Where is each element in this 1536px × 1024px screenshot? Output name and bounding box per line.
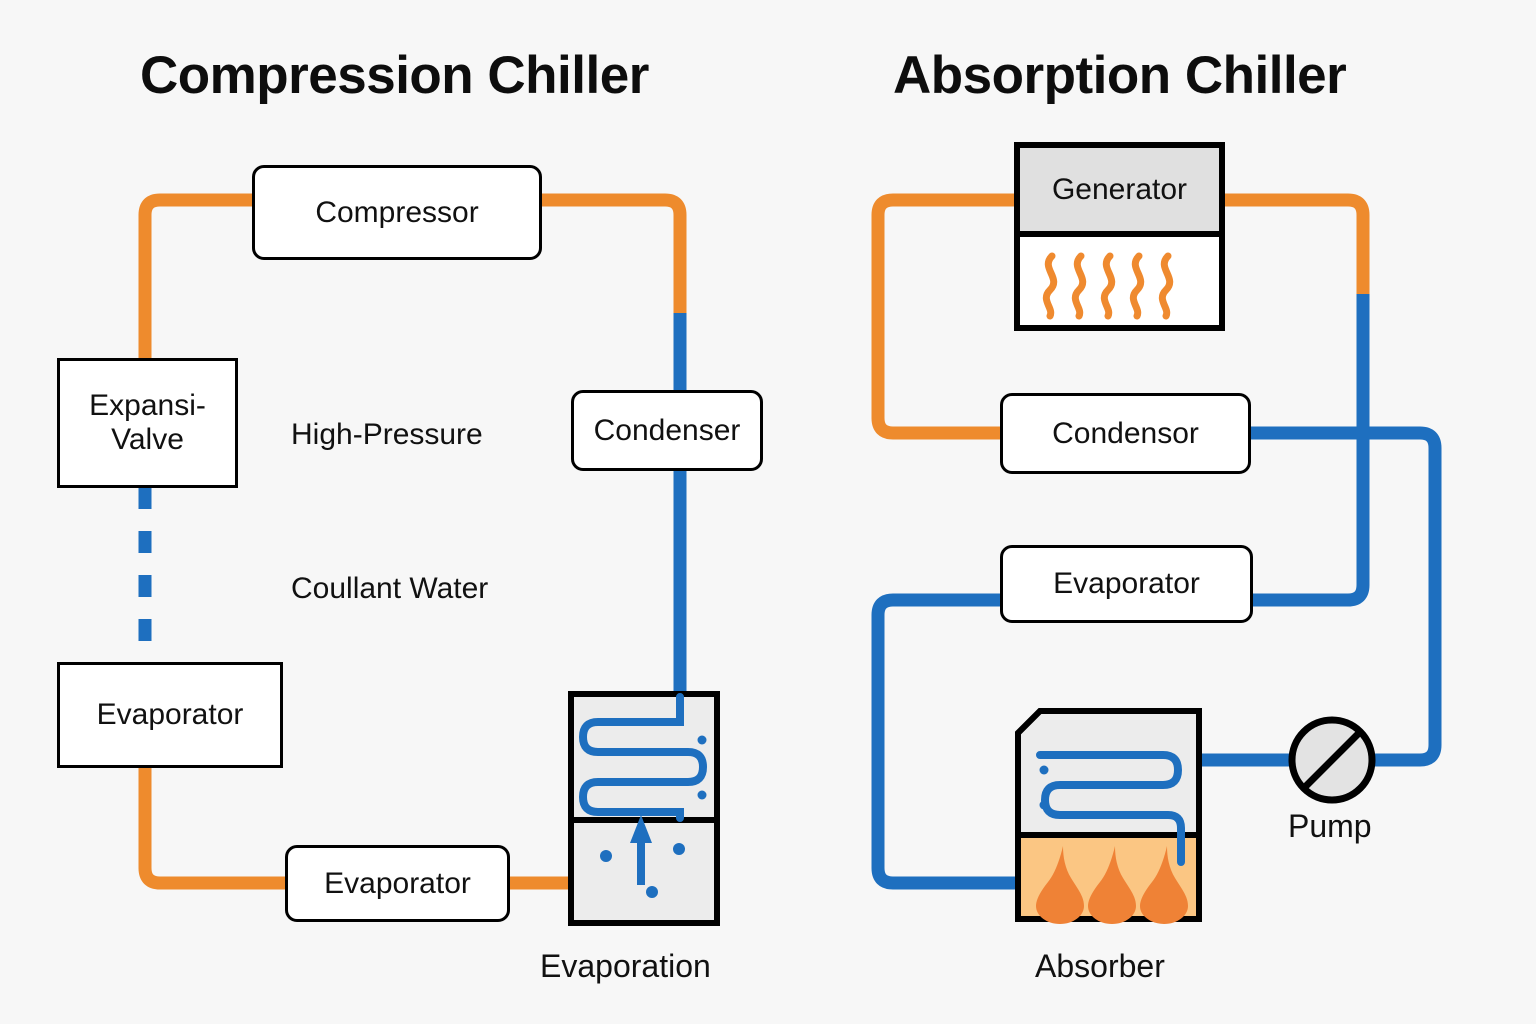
box-compressor[interactable]: Compressor [252,165,542,260]
droplet-dot-icon [1040,801,1049,810]
droplet-dot-icon [673,843,685,855]
pipe-evaporator-to-bottom-evaporator [145,767,285,883]
pipe-evaporator-to-absorber [878,600,1018,883]
droplet-dot-icon [646,886,658,898]
left-panel-title: Compression Chiller [140,45,649,106]
box-evaporator-right[interactable]: Evaporator [1000,545,1253,623]
label-coolant-water: Coullant Water [291,572,488,606]
box-condensor[interactable]: Condensor [1000,393,1251,474]
caption-absorber: Absorber [1035,948,1165,985]
label-high-pressure: High-Pressure [291,418,483,452]
pipe-compressor-to-expansion-valve [145,200,252,358]
box-evaporator-bottom[interactable]: Evaporator [285,845,510,922]
box-expansion-valve[interactable]: Expansi- Valve [57,358,238,488]
droplet-dot-icon [698,736,707,745]
pipe-generator-right-orange [1222,200,1363,296]
box-evaporator-left[interactable]: Evaporator [57,662,283,768]
caption-evaporation: Evaporation [540,948,711,985]
box-condenser[interactable]: Condenser [571,390,763,471]
label-pump: Pump [1288,808,1372,845]
droplet-dot-icon [1040,766,1049,775]
right-panel-title: Absorption Chiller [893,45,1346,106]
box-generator-label[interactable]: Generator [1017,145,1222,234]
pipe-generator-to-condensor [878,200,1017,433]
pipe-compressor-to-condenser-orange [541,200,680,315]
pipe-network-layer [0,0,1536,1024]
diagram-canvas: Compression Chiller Absorption Chiller C… [0,0,1536,1024]
pipe-down-to-evaporator-blue [1253,294,1363,600]
droplet-dot-icon [698,791,707,800]
droplet-dot-icon [600,850,612,862]
